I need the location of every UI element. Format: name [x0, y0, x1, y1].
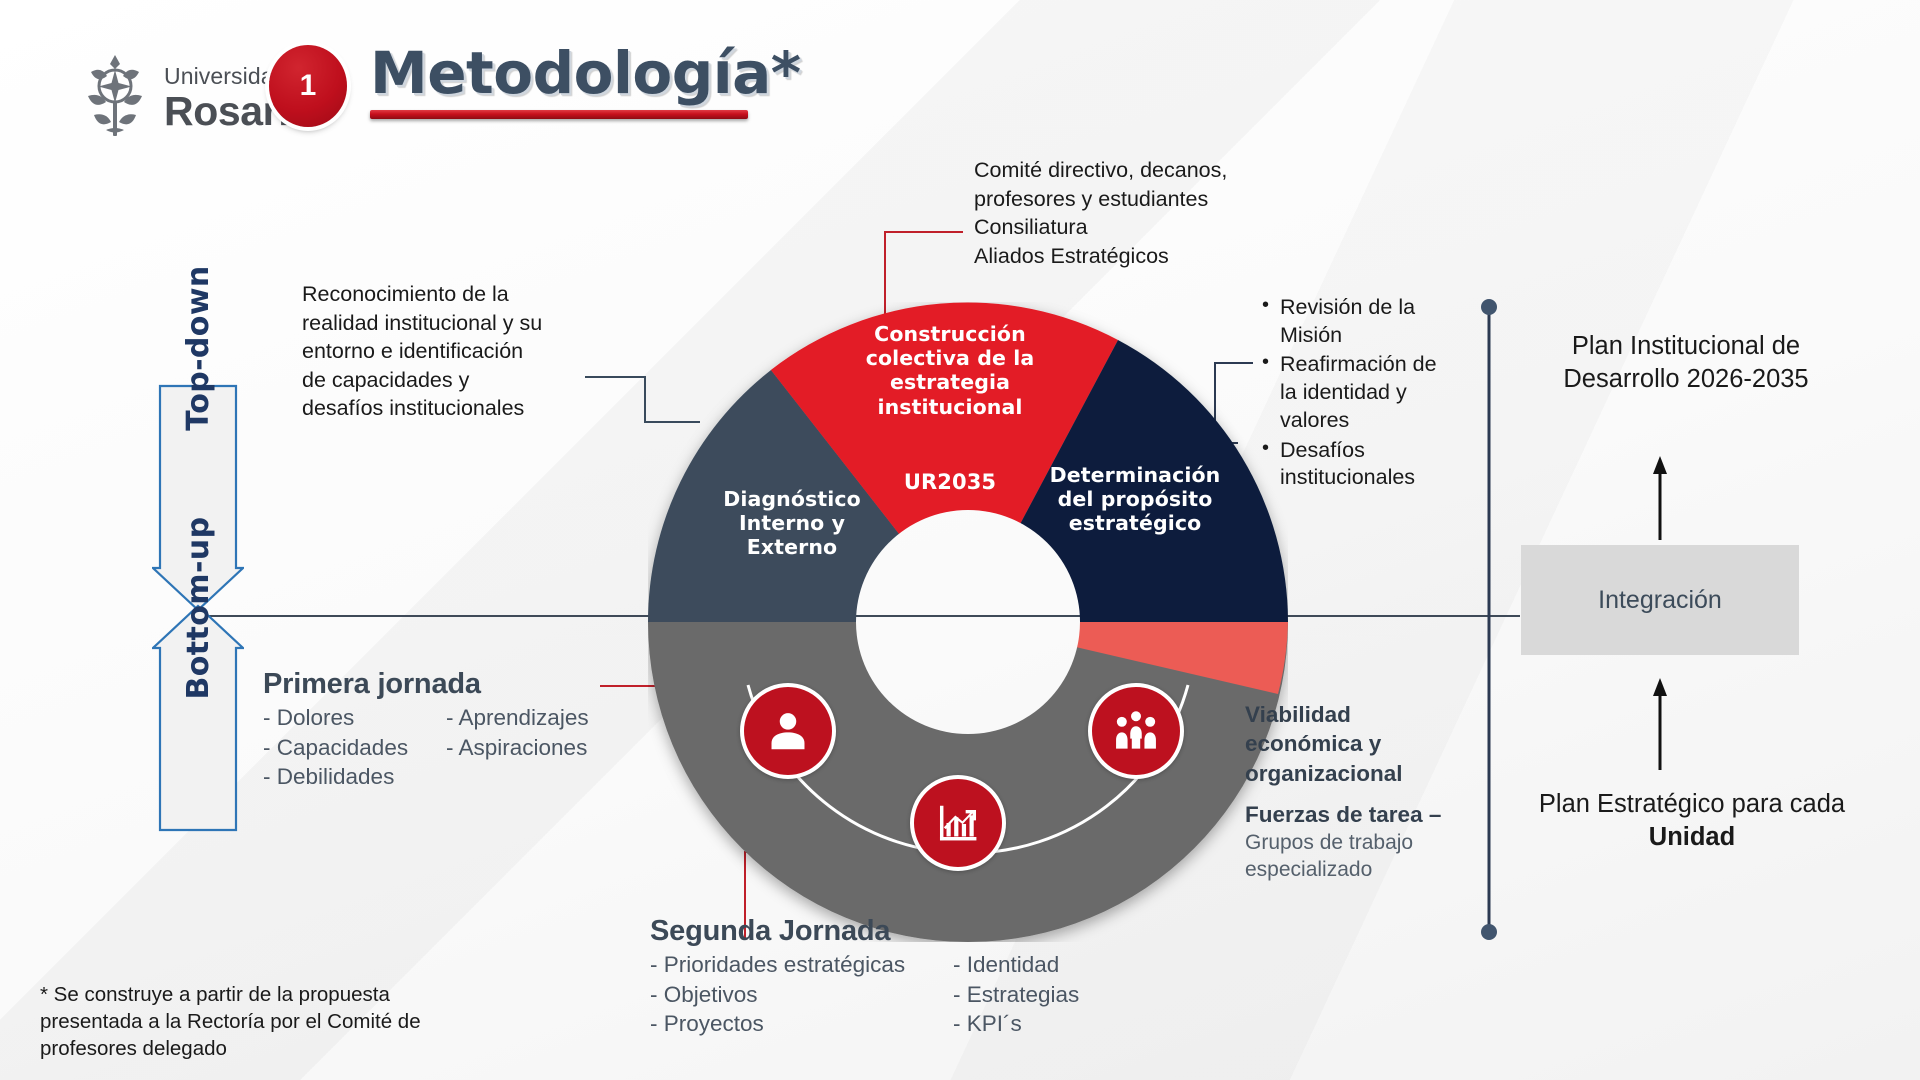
viabilidad-title: Viabilidad económica y organizacional — [1245, 700, 1445, 788]
list-item: - Identidad — [953, 950, 1079, 980]
integracion-label: Integración — [1598, 586, 1722, 615]
page-title: Metodología* — [370, 43, 801, 104]
primera-jornada-col-b: - Aprendizajes - Aspiraciones — [446, 703, 589, 792]
fuerzas-title: Fuerzas de tarea – — [1245, 800, 1460, 829]
person-icon — [765, 708, 811, 754]
plan-estrategico-label: Plan Estratégico para cada Unidad — [1516, 788, 1868, 853]
title-block: Metodología* — [370, 43, 801, 119]
donut-label-diagnostico: Diagnóstico Interno y Externo — [712, 487, 872, 560]
node-growth[interactable] — [910, 775, 1006, 871]
callout-left-line-2: realidad institucional y su — [302, 309, 584, 338]
list-item: - Aspiraciones — [446, 733, 589, 763]
title-underline — [370, 110, 748, 119]
integracion-box: Integración — [1521, 545, 1799, 655]
list-item: - KPI´s — [953, 1009, 1079, 1039]
people-group-icon — [1113, 708, 1159, 754]
list-item: - Prioridades estratégicas — [650, 950, 935, 980]
list-item: - Debilidades — [263, 762, 428, 792]
topdown-bottomup-arrow: Top-down Bottom-up — [152, 378, 244, 838]
callout-left: Reconocimiento de la realidad institucio… — [302, 280, 584, 423]
fuerzas-subtitle: Grupos de trabajo especializado — [1245, 830, 1460, 884]
segunda-jornada-col-b: - Identidad - Estrategias - KPI´s — [953, 950, 1079, 1039]
list-item: - Dolores — [263, 703, 428, 733]
list-item: - Estrategias — [953, 980, 1079, 1010]
callout-left-line-4: de capacidades y — [302, 366, 584, 395]
segunda-jornada-title: Segunda Jornada — [650, 915, 1079, 948]
primera-jornada-block: Primera jornada - Dolores - Capacidades … — [263, 668, 589, 792]
growth-chart-icon — [935, 800, 981, 846]
node-people[interactable] — [1088, 683, 1184, 779]
callout-right-bullet-1: Revisión de la Misión — [1280, 294, 1458, 349]
callout-right-bullet-3: Desafíos institucionales — [1280, 437, 1458, 492]
list-item: - Objetivos — [650, 980, 935, 1010]
list-item: - Capacidades — [263, 733, 428, 763]
fuerzas-de-tarea-block: Fuerzas de tarea – Grupos de trabajo esp… — [1245, 800, 1460, 884]
plan-estrategico-bold: Unidad — [1649, 823, 1735, 851]
callout-top-line-4: Aliados Estratégicos — [974, 242, 1274, 271]
primera-jornada-col-a: - Dolores - Capacidades - Debilidades — [263, 703, 428, 792]
axis-label-bottom-up: Bottom-up — [152, 378, 244, 838]
donut-label-construccion: Construcción colectiva de la estrategia … — [855, 322, 1045, 419]
node-person[interactable] — [740, 683, 836, 779]
list-item: - Aprendizajes — [446, 703, 589, 733]
callout-left-line-1: Reconocimiento de la — [302, 280, 584, 309]
callout-right: Revisión de la Misión Reafirmación de la… — [1258, 294, 1458, 494]
callout-top-line-2: profesores y estudiantes — [974, 185, 1274, 214]
viabilidad-block: Viabilidad económica y organizacional — [1245, 700, 1445, 788]
plan-institucional-label: Plan Institucional de Desarrollo 2026-20… — [1516, 330, 1856, 395]
university-crest-icon — [78, 52, 152, 144]
step-number-value: 1 — [300, 69, 317, 103]
segunda-jornada-block: Segunda Jornada - Prioridades estratégic… — [650, 915, 1079, 1039]
plan-estrategico-prefix: Plan Estratégico para cada — [1539, 790, 1845, 818]
list-item: - Proyectos — [650, 1009, 935, 1039]
step-number-badge: 1 — [269, 45, 347, 127]
callout-left-line-3: entorno e identificación — [302, 337, 584, 366]
donut-label-determinacion: Determinación del propósito estratégico — [1040, 463, 1230, 536]
segunda-jornada-col-a: - Prioridades estratégicas - Objetivos -… — [650, 950, 935, 1039]
callout-left-line-5: desafíos institucionales — [302, 394, 584, 423]
primera-jornada-title: Primera jornada — [263, 668, 589, 701]
slide-header: Universidad del Rosario 1 Metodología* — [0, 0, 1920, 170]
footnote: * Se construye a partir de la propuesta … — [40, 981, 460, 1062]
callout-top: Comité directivo, decanos, profesores y … — [974, 156, 1274, 270]
callout-right-bullet-2: Reafirmación de la identidad y valores — [1280, 351, 1458, 434]
donut-label-ur2035: UR2035 — [895, 470, 1005, 495]
callout-top-line-3: Consiliatura — [974, 213, 1274, 242]
